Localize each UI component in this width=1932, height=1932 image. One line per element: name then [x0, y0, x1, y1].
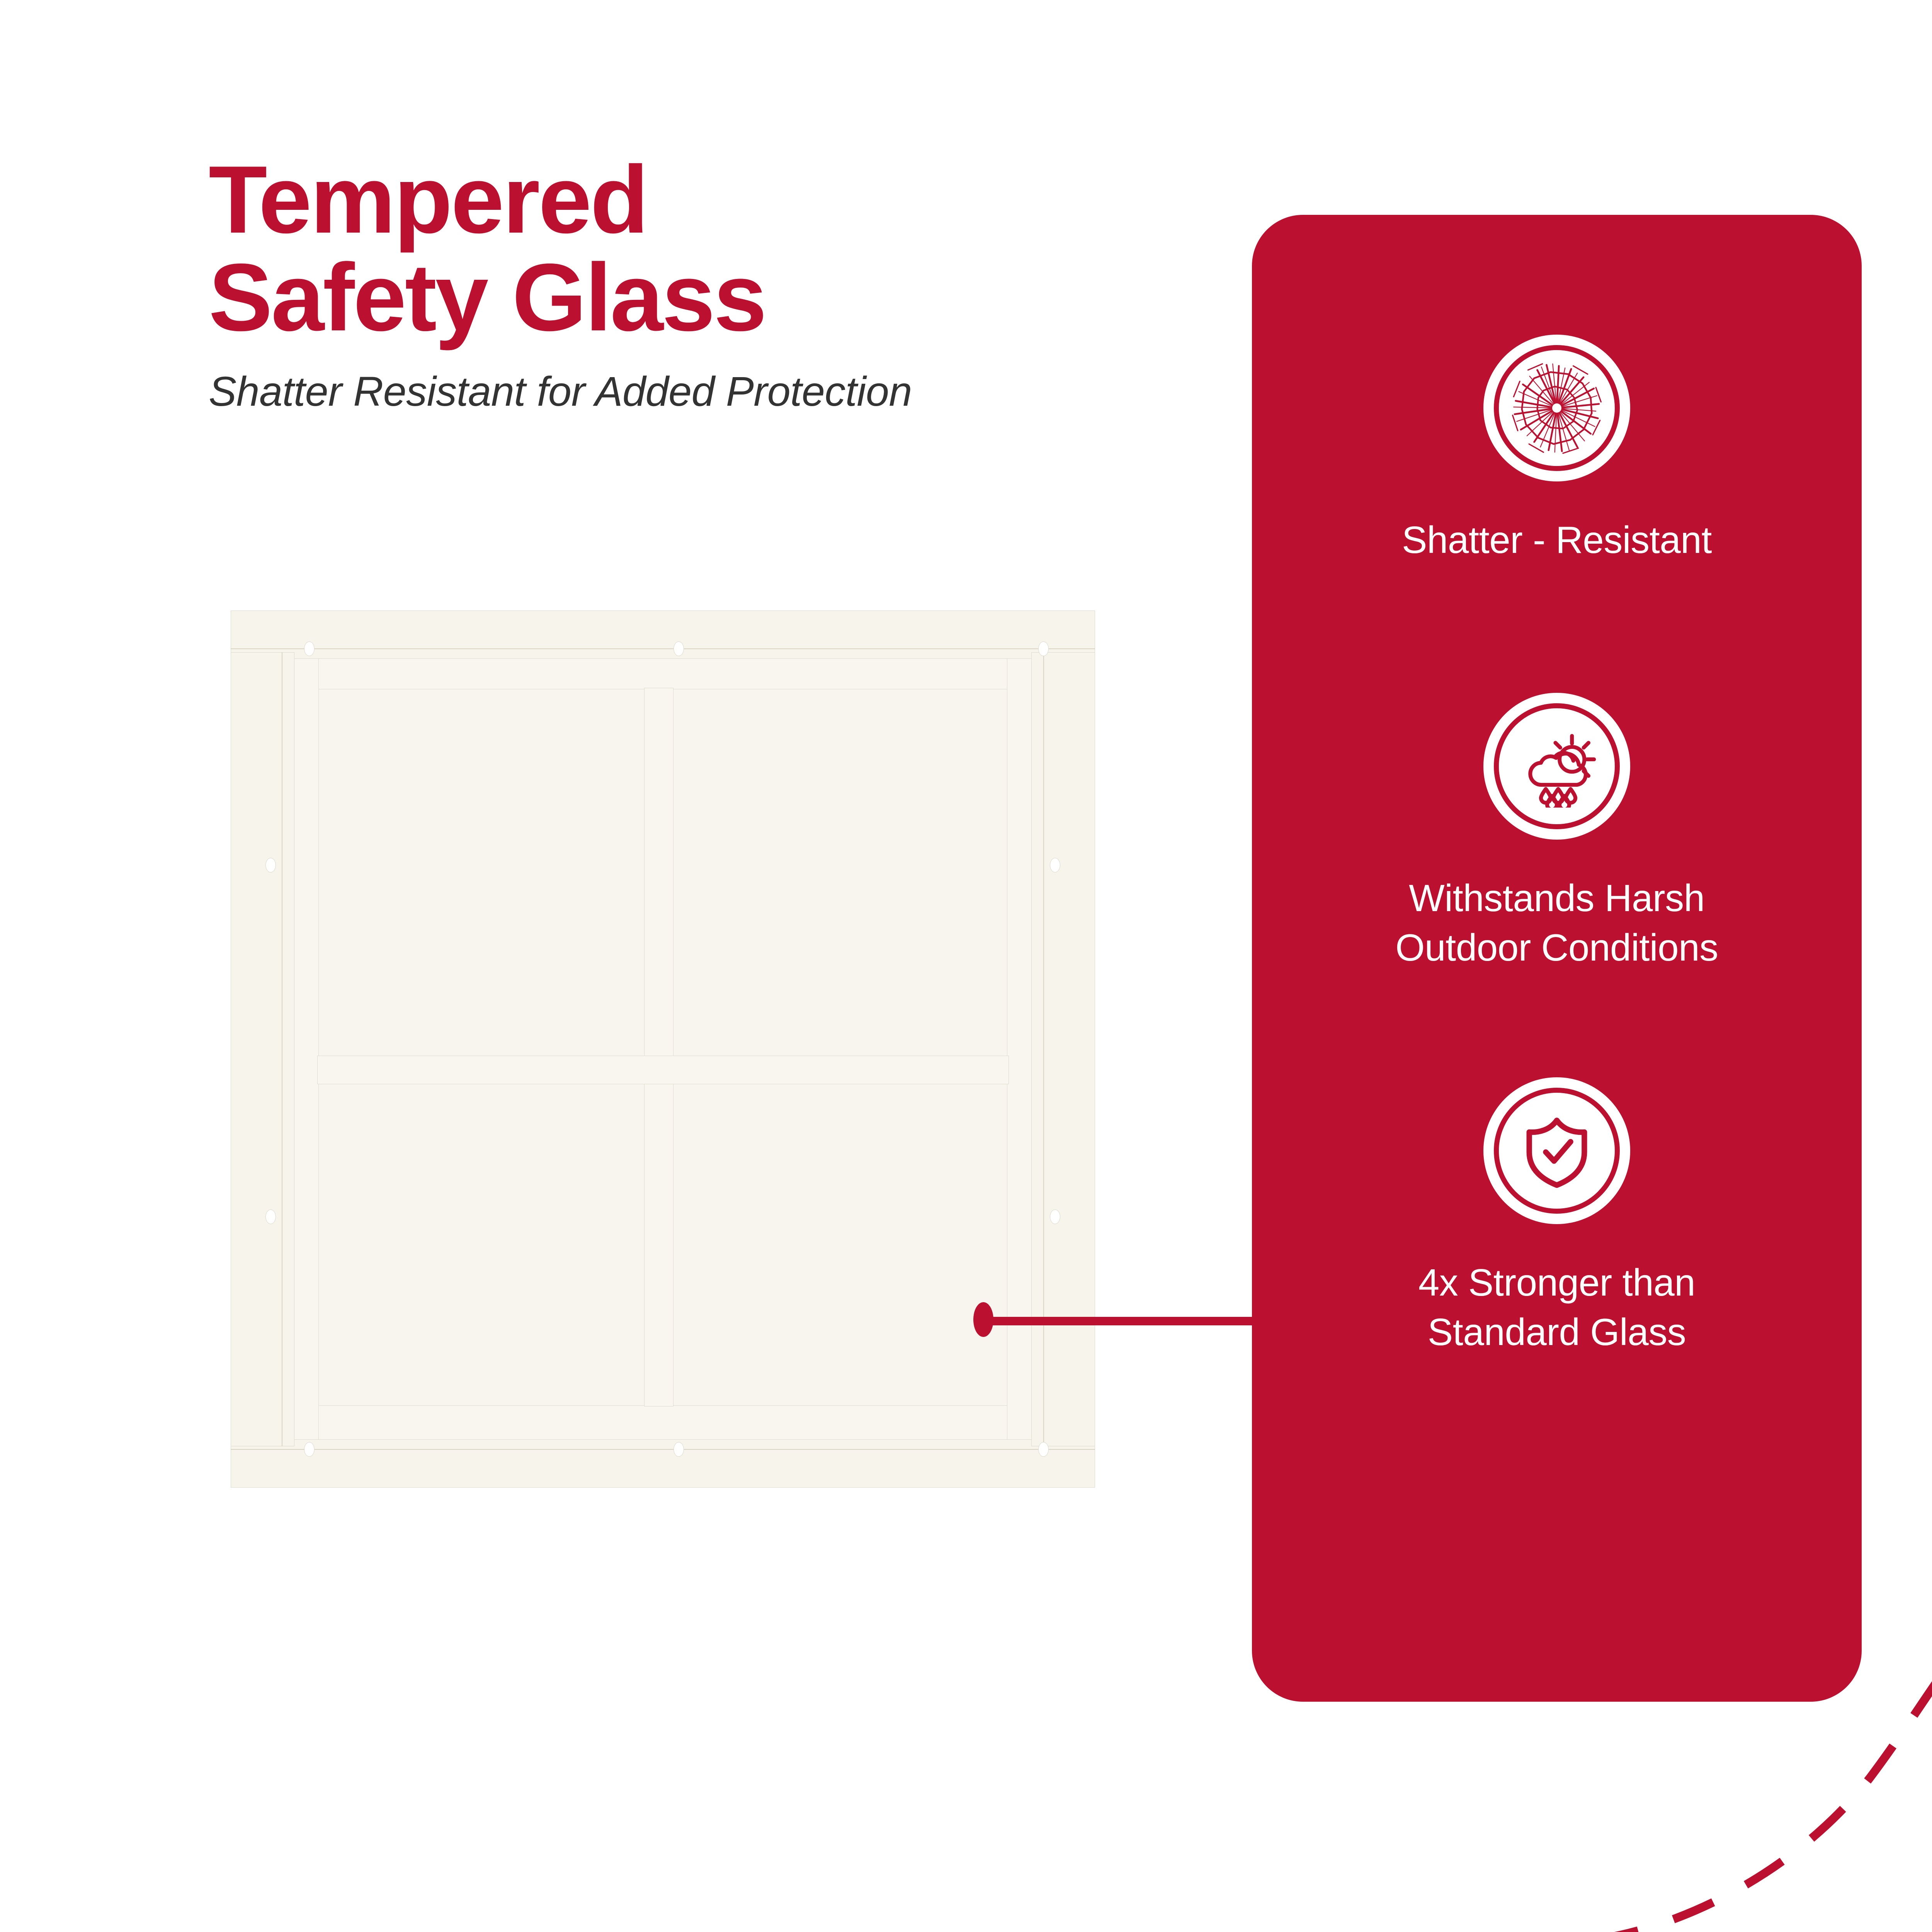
sun-cloud-rain-icon: [1483, 693, 1630, 840]
feature-label-stronger-glass: 4x Stronger than Standard Glass: [1418, 1258, 1696, 1357]
window-mullion-horizontal: [317, 1056, 1009, 1084]
feature-label-outdoor-conditions: Withstands Harsh Outdoor Conditions: [1395, 874, 1718, 972]
mounting-hole: [1050, 1209, 1060, 1224]
flange-ridge: [231, 648, 1095, 649]
window-mullion-vertical: [644, 688, 673, 1406]
mounting-hole: [304, 641, 315, 656]
flange-ridge: [231, 1449, 1095, 1450]
shield-check-icon: [1483, 1077, 1630, 1224]
window-product-image: [231, 611, 1095, 1488]
page-subtitle: Shatter Resistant for Added Protection: [209, 346, 1136, 417]
mounting-hole: [1050, 858, 1060, 872]
mounting-hole: [673, 641, 684, 656]
mounting-flange-right: [1031, 652, 1095, 1446]
callout-line: [987, 1317, 1258, 1325]
feature-item-shatter-resistant[interactable]: Shatter - Resistant: [1252, 335, 1862, 565]
shattered-glass-icon: [1483, 335, 1630, 481]
flange-ridge: [1043, 652, 1044, 1446]
window-sash: [285, 654, 1041, 1444]
page-title: Tempered Safety Glass: [209, 151, 1136, 346]
mounting-hole: [673, 1442, 684, 1457]
flange-ridge: [282, 652, 282, 1446]
mounting-hole: [265, 1209, 276, 1224]
feature-panel: Shatter - Resistant: [1252, 215, 1862, 1702]
mounting-hole: [1038, 641, 1049, 656]
mounting-flange-top: [231, 611, 1095, 659]
callout-dot: [973, 1302, 993, 1337]
header: Tempered Safety Glass Shatter Resistant …: [209, 151, 1136, 417]
mounting-flange-left: [231, 652, 294, 1446]
sash-bottom-rail: [285, 1405, 1041, 1444]
sash-top-rail: [285, 654, 1041, 689]
feature-item-stronger-glass[interactable]: 4x Stronger than Standard Glass: [1252, 1077, 1862, 1357]
mounting-flange-bottom: [231, 1439, 1095, 1488]
mounting-hole: [265, 858, 276, 872]
mounting-hole: [1038, 1442, 1049, 1457]
feature-item-outdoor-conditions[interactable]: Withstands Harsh Outdoor Conditions: [1252, 693, 1862, 972]
mounting-hole: [304, 1442, 315, 1457]
feature-label-shatter-resistant: Shatter - Resistant: [1402, 515, 1712, 565]
